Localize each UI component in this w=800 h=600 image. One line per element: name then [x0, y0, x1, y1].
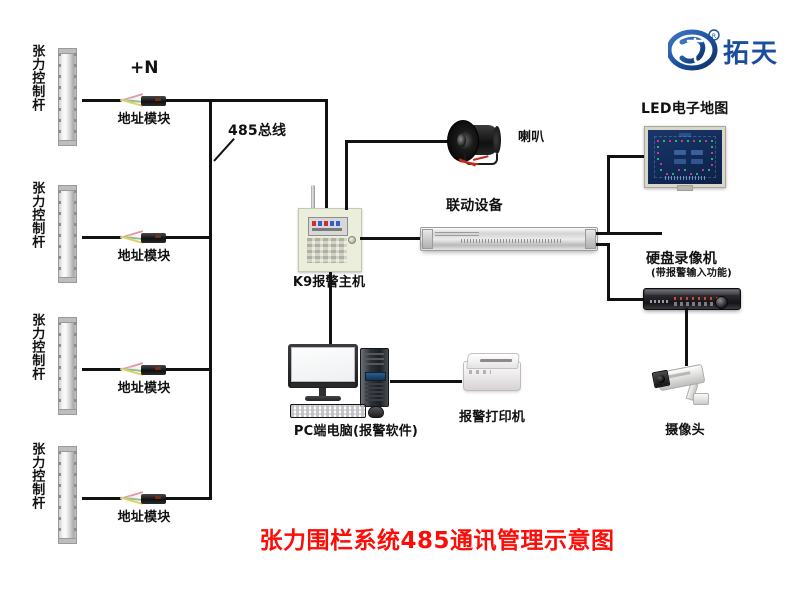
wire-module1-to-bus [166, 99, 212, 102]
wire-pole4-to-module [82, 497, 122, 500]
diagram-canvas: R 拓天 张力控制杆 +N 地址模块 张力控制杆 地址模块 张力控制杆 [0, 0, 800, 600]
led-map-label: LED电子地图 [641, 101, 729, 117]
bus-drop-to-host [325, 99, 328, 209]
tension-pole-label-3: 张力控制杆 [30, 313, 43, 381]
wire-pc-to-printer [390, 380, 462, 383]
address-module-label-3: 地址模块 [118, 382, 171, 397]
tension-pole-4 [58, 446, 77, 544]
wire-module4-to-bus [166, 497, 212, 500]
printer-label: 报警打印机 [459, 411, 525, 426]
host-display [308, 217, 348, 236]
wire-host-to-linkage [360, 237, 422, 240]
pc-label: PC端电脑(报警软件) [294, 425, 418, 440]
linkage-device [420, 227, 598, 251]
tension-pole-label-4: 张力控制杆 [30, 442, 43, 510]
dvr-device [643, 288, 741, 310]
address-module-label-4: 地址模块 [118, 511, 171, 526]
tension-pole-2 [58, 185, 77, 283]
bus-trunk-vertical [209, 99, 212, 500]
dvr-sublabel: (带报警输入功能) [651, 268, 732, 280]
bus-leader-line [213, 138, 235, 162]
address-module-4 [120, 490, 166, 508]
wire-pole3-to-module [82, 368, 122, 371]
wire-to-dvr [607, 298, 645, 301]
camera-label: 摄像头 [665, 424, 705, 439]
bus-label: 485总线 [228, 123, 286, 139]
keyboard-icon [290, 404, 366, 418]
host-lock-knob-icon[interactable] [348, 236, 356, 244]
wire-module3-to-bus [166, 368, 212, 371]
brand-logo: R 拓天 [668, 28, 792, 72]
horn-speaker [447, 118, 509, 164]
plus-n-label: +N [130, 58, 158, 78]
address-module-label-1: 地址模块 [118, 113, 171, 128]
address-module-label-2: 地址模块 [118, 250, 171, 265]
bus-trunk-to-host [209, 99, 328, 102]
svg-text:R: R [712, 33, 716, 40]
address-module-1 [120, 92, 166, 110]
monitor-icon [288, 344, 358, 388]
dvr-label: 硬盘录像机 [646, 251, 717, 267]
brand-name: 拓天 [723, 33, 779, 70]
dvr-jog-dial-icon [715, 296, 728, 309]
k9-alarm-host[interactable] [298, 208, 362, 272]
tension-pole-label-1: 张力控制杆 [30, 44, 43, 112]
wire-host-to-speaker-h [345, 140, 451, 143]
alarm-printer [463, 353, 523, 393]
tension-pole-label-2: 张力控制杆 [30, 181, 43, 249]
linkage-device-label: 联动设备 [446, 198, 503, 214]
tension-pole-1 [58, 48, 77, 146]
wire-to-ledmap [607, 155, 645, 158]
wire-host-to-speaker-v [345, 140, 348, 210]
wire-module2-to-bus [166, 236, 212, 239]
wire-split-up-to-ledmap [607, 155, 610, 233]
pc-workstation [288, 344, 392, 418]
wire-pole1-to-module [82, 99, 122, 102]
surveillance-camera [652, 362, 714, 412]
wire-dvr-to-camera [685, 308, 688, 366]
diagram-title: 张力围栏系统485通讯管理示意图 [259, 521, 614, 555]
mouse-icon [368, 406, 384, 418]
wire-host-to-pc [329, 272, 332, 346]
wire-pole2-to-module [82, 236, 122, 239]
address-module-2 [120, 229, 166, 247]
wire-linkage-to-ledmap-h [596, 232, 662, 235]
tower-icon [360, 348, 389, 407]
speaker-label: 喇叭 [518, 131, 544, 146]
wire-split-down-to-dvr [607, 243, 610, 301]
led-electronic-map [644, 126, 726, 188]
led-map-screen [648, 130, 722, 184]
tension-pole-3 [58, 317, 77, 415]
host-keypad[interactable] [307, 238, 347, 263]
address-module-3 [120, 361, 166, 379]
